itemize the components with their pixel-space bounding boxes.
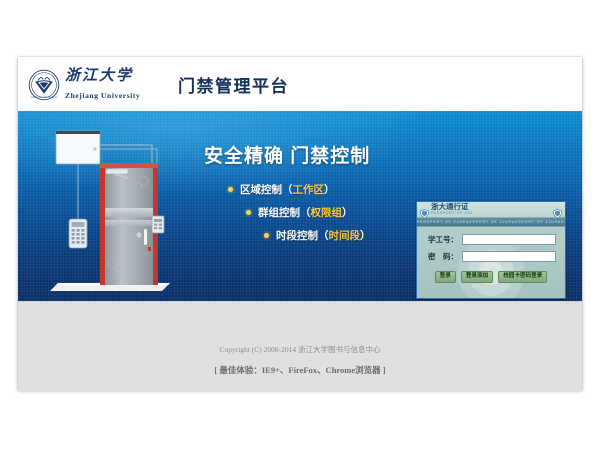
svg-text:ZHEJIANG UNIVERSITY: ZHEJIANG UNIVERSITY [30, 96, 58, 99]
login-panel-title: 浙大通行证 [431, 203, 473, 211]
feature-label: 群组控制（ [258, 205, 311, 220]
feature-highlight: 时间段 [329, 228, 361, 243]
feature-suffix: ） [360, 228, 371, 243]
shield-icon [420, 205, 429, 214]
feature-label: 区域控制（ [240, 182, 293, 197]
username-row: 学工号： [423, 234, 565, 245]
passport-band-text: PASSPORT OF ZJU [509, 220, 555, 224]
zju-logo[interactable]: ZHEJIANG UNIVERSITY 浙江大学 Zhejiang Univer… [28, 67, 140, 103]
list-item: 群组控制（权限组） [246, 205, 419, 220]
page-container: ZHEJIANG UNIVERSITY 浙江大学 Zhejiang Univer… [18, 57, 582, 390]
login-panel-title-en: PASSPORT OF ZJU [431, 212, 473, 216]
password-label: 密 码： [423, 251, 458, 262]
feature-suffix: ） [324, 182, 335, 197]
login-title-block: 浙大通行证 PASSPORT OF ZJU [431, 203, 473, 215]
copyright-text: Copyright (C) 2008-2014 浙江大学图书与信息中心 [18, 344, 582, 355]
feature-label: 时段控制（ [276, 228, 329, 243]
banner-headline: 安全精确 门禁控制 [204, 141, 419, 168]
password-input[interactable] [462, 251, 556, 262]
banner-feature-list: 区域控制（工作区） 群组控制（权限组） 时段控制（时间段） [204, 182, 419, 243]
login-button[interactable]: 登录 [435, 271, 456, 283]
login-panel-header: 浙大通行证 PASSPORT OF ZJU [417, 202, 565, 218]
zju-logo-text: 浙江大学 Zhejiang University [65, 67, 140, 103]
zju-logo-en: Zhejiang University [65, 91, 140, 100]
bullet-dot-icon [264, 233, 269, 238]
feature-suffix: ） [342, 205, 353, 220]
login-form: 学工号： 密 码： 登录 登录添加 校园卡密码登录 [417, 227, 565, 299]
password-row: 密 码： [423, 251, 565, 262]
zju-logo-cn: 浙江大学 [65, 68, 133, 84]
site-footer: Copyright (C) 2008-2014 浙江大学图书与信息中心 [ 最佳… [18, 301, 582, 391]
page-title: 门禁管理平台 [178, 72, 289, 97]
passport-band-text: PASSPORT OF ZJU [463, 220, 509, 224]
feature-highlight: 工作区 [293, 182, 325, 197]
banner-headline-block: 安全精确 门禁控制 区域控制（工作区） 群组控制（权限组） 时段控制（时间段） [204, 141, 419, 251]
login-add-button[interactable]: 登录添加 [461, 271, 493, 283]
list-item: 时段控制（时间段） [264, 228, 419, 243]
passport-band: PASSPORT OF ZJU PASSPORT OF ZJU PASSPORT… [417, 218, 565, 227]
list-item: 区域控制（工作区） [228, 182, 419, 197]
browser-support-note: [ 最佳体验：IE9+、FireFox、Chrome浏览器 ] [18, 364, 582, 376]
door-access-control-illustration [40, 123, 190, 298]
login-panel: 浙大通行证 PASSPORT OF ZJU PASSPORT OF ZJU PA… [416, 201, 566, 299]
passport-band-text: PASSPORT OF ZJU [417, 220, 463, 224]
hero-banner: 安全精确 门禁控制 区域控制（工作区） 群组控制（权限组） 时段控制（时间段） [18, 111, 582, 301]
zju-seal-icon: ZHEJIANG UNIVERSITY [28, 69, 60, 101]
username-input[interactable] [462, 234, 556, 245]
feature-highlight: 权限组 [311, 205, 343, 220]
campus-card-login-button[interactable]: 校园卡密码登录 [498, 271, 547, 283]
shield-icon-right [553, 205, 562, 214]
site-header: ZHEJIANG UNIVERSITY 浙江大学 Zhejiang Univer… [18, 57, 582, 112]
passport-band-text: PASSPORT OF ZJU [555, 220, 565, 224]
bullet-dot-icon [246, 210, 251, 215]
username-label: 学工号： [423, 234, 458, 245]
login-button-row: 登录 登录添加 校园卡密码登录 [417, 271, 565, 283]
bullet-dot-icon [228, 187, 233, 192]
